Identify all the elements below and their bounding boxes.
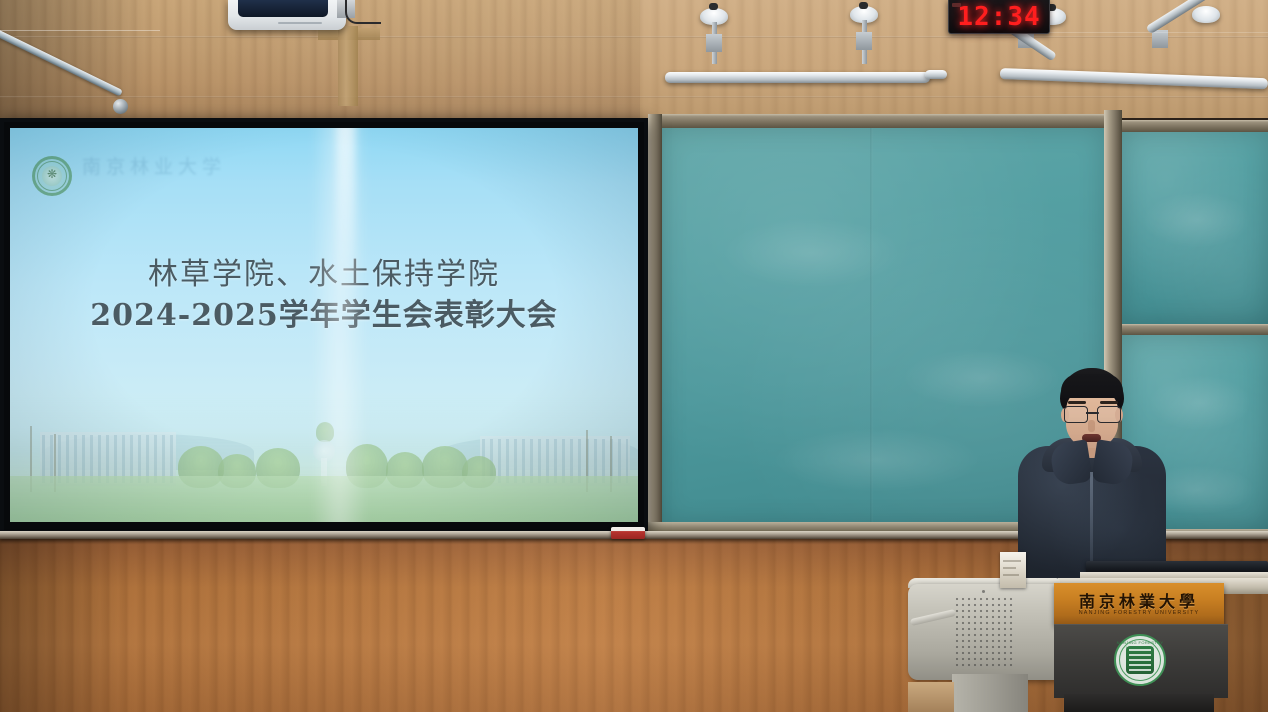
speaker-fringe: [1061, 374, 1123, 398]
projector-vent: [278, 22, 322, 24]
projection-screen[interactable]: ❋ 南京林业大学 林草学院、水土保持学院 2024-2025学年学生会表彰大会: [0, 118, 648, 534]
speaker-nose: [1088, 420, 1095, 432]
glasses-icon: [1064, 406, 1121, 421]
podium-indicator-icon: [982, 590, 985, 593]
podium-base-right: [1064, 694, 1214, 712]
podium-name-card[interactable]: [1000, 552, 1026, 588]
blackboard-lamp-tube-1: [665, 72, 930, 83]
projector-support-arm: [338, 26, 358, 106]
lectern-podium: 南京林業大學 NANJING FORESTRY UNIVERSITY NANJI…: [908, 556, 1268, 712]
wall-seam-upper: [0, 36, 1268, 38]
board-frame-left: [648, 114, 662, 534]
lecture-hall-scene: 12:34: [0, 0, 1268, 712]
screen-vignette: [10, 128, 638, 522]
lamp-reflector-4: [1192, 6, 1220, 23]
lamp-fitting-1: [709, 3, 718, 10]
chalk-eraser[interactable]: [611, 527, 645, 539]
wall-wire: [0, 30, 160, 31]
podium-university-plaque: 南京林業大學 NANJING FORESTRY UNIVERSITY: [1054, 583, 1224, 626]
board-frame-mid-right: [1122, 324, 1268, 335]
clock-indicator-icon: [952, 3, 961, 7]
speaker-brow-left: [1068, 401, 1086, 404]
blackboard-panel-right-upper[interactable]: [1122, 132, 1268, 324]
lamp-end-cap-1: [925, 70, 947, 79]
digital-wall-clock: 12:34: [948, 0, 1050, 34]
wall-seam-lower: [0, 96, 1268, 98]
slide-surface: ❋ 南京林业大学 林草学院、水土保持学院 2024-2025学年学生会表彰大会: [10, 128, 638, 522]
speaker-brow-right: [1100, 401, 1118, 404]
speaker-grille-icon: [954, 596, 1016, 670]
blackboard-assembly: [648, 110, 1268, 538]
podium-speaker-panel: [908, 584, 1058, 680]
podium-front-panel: NANJING FORESTRY UNIVERSITY: [1054, 624, 1228, 698]
ceiling-rod-knob: [113, 99, 128, 114]
plaque-chinese-name: 南京林業大學: [1054, 588, 1224, 612]
lamp-plate-2: [856, 32, 872, 50]
plaque-english-name: NANJING FORESTRY UNIVERSITY: [1054, 610, 1224, 616]
lamp-fitting-2: [859, 2, 868, 9]
podium-handle[interactable]: [910, 609, 956, 626]
board-frame-top-right: [1122, 120, 1268, 132]
podium-column: [952, 674, 1028, 712]
podium-floor-left: [908, 682, 954, 712]
clock-time: 12:34: [957, 2, 1040, 32]
board-frame-top-left: [648, 114, 1118, 128]
university-emblem-icon: NANJING FORESTRY UNIVERSITY: [1114, 634, 1166, 686]
projector-cable: [345, 0, 381, 24]
lamp-plate-1: [706, 34, 722, 52]
projector-lens-icon: [238, 0, 328, 17]
